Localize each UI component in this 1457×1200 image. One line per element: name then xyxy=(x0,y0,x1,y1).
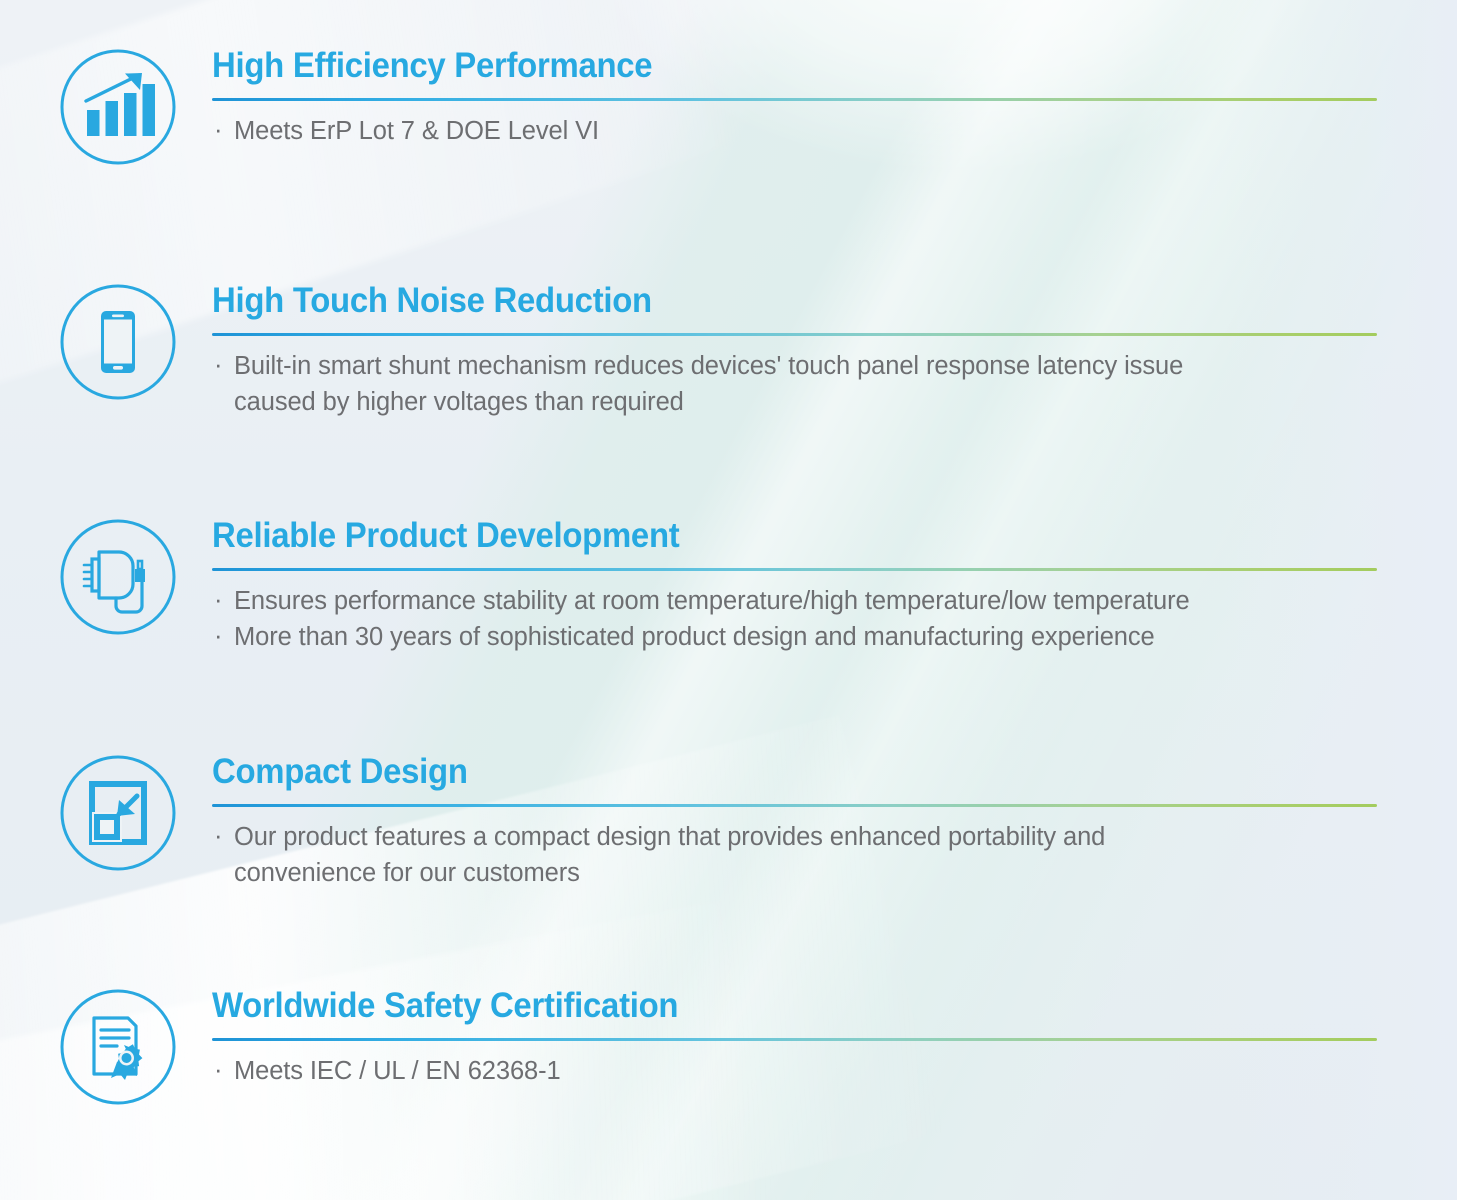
feature-highlights-page: High Efficiency Performance Meets ErP Lo… xyxy=(0,0,1457,1200)
power-adapter-icon xyxy=(59,518,177,636)
feature-title: High Touch Noise Reduction xyxy=(212,283,1307,320)
feature-text-block: High Efficiency Performance Meets ErP Lo… xyxy=(212,48,1457,149)
bar-chart-growth-icon xyxy=(59,48,177,166)
feature-item-reliable-product-development: Reliable Product Development Ensures per… xyxy=(0,518,1457,655)
feature-bullet-list: Meets IEC / UL / EN 62368-1 xyxy=(212,1053,1377,1089)
feature-bullet-list: Built-in smart shunt mechanism reduces d… xyxy=(212,348,1377,420)
feature-item-worldwide-safety-certification: Worldwide Safety Certification Meets IEC… xyxy=(0,988,1457,1106)
compact-resize-icon xyxy=(59,754,177,872)
feature-text-block: Worldwide Safety Certification Meets IEC… xyxy=(212,988,1457,1089)
feature-item-high-efficiency-performance: High Efficiency Performance Meets ErP Lo… xyxy=(0,48,1457,166)
feature-divider xyxy=(212,568,1377,571)
feature-title: Compact Design xyxy=(212,754,1307,791)
feature-icon-slot xyxy=(53,988,183,1106)
feature-title: High Efficiency Performance xyxy=(212,48,1307,85)
features-list: High Efficiency Performance Meets ErP Lo… xyxy=(0,0,1457,1200)
feature-title: Reliable Product Development xyxy=(212,518,1307,555)
feature-divider xyxy=(212,333,1377,336)
feature-text-block: Compact Design Our product features a co… xyxy=(212,754,1457,891)
feature-icon-slot xyxy=(53,518,183,636)
list-item: Built-in smart shunt mechanism reduces d… xyxy=(212,348,1377,420)
feature-text-block: Reliable Product Development Ensures per… xyxy=(212,518,1457,655)
list-item: Meets IEC / UL / EN 62368-1 xyxy=(212,1053,1377,1089)
feature-divider xyxy=(212,1038,1377,1041)
feature-icon-slot xyxy=(53,283,183,401)
feature-bullet-list: Our product features a compact design th… xyxy=(212,819,1377,891)
feature-bullet-list: Ensures performance stability at room te… xyxy=(212,583,1377,655)
list-item: Meets ErP Lot 7 & DOE Level VI xyxy=(212,113,1377,149)
feature-divider xyxy=(212,98,1377,101)
list-item: Ensures performance stability at room te… xyxy=(212,583,1377,619)
feature-item-high-touch-noise-reduction: High Touch Noise Reduction Built-in smar… xyxy=(0,283,1457,420)
feature-text-block: High Touch Noise Reduction Built-in smar… xyxy=(212,283,1457,420)
smartphone-icon xyxy=(59,283,177,401)
certificate-seal-icon xyxy=(59,988,177,1106)
feature-icon-slot xyxy=(53,754,183,872)
feature-bullet-list: Meets ErP Lot 7 & DOE Level VI xyxy=(212,113,1377,149)
list-item: More than 30 years of sophisticated prod… xyxy=(212,619,1377,655)
feature-divider xyxy=(212,804,1377,807)
feature-icon-slot xyxy=(53,48,183,166)
feature-item-compact-design: Compact Design Our product features a co… xyxy=(0,754,1457,891)
list-item: Our product features a compact design th… xyxy=(212,819,1377,891)
feature-title: Worldwide Safety Certification xyxy=(212,988,1307,1025)
